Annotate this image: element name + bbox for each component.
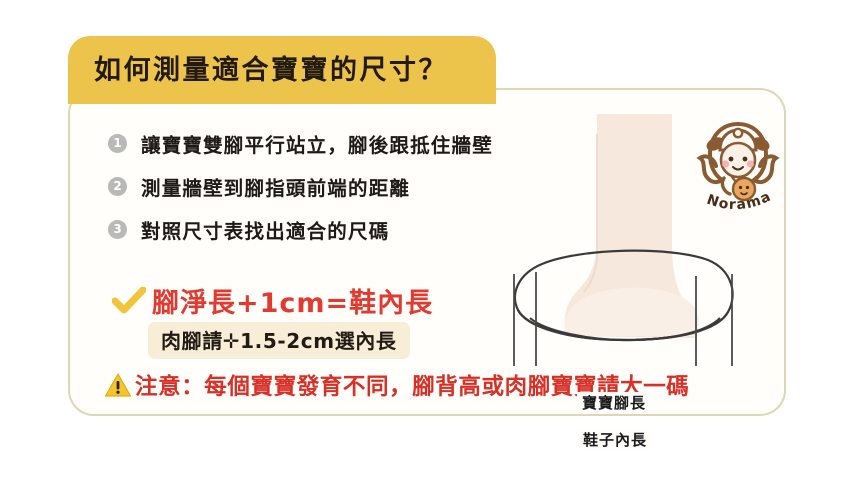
step-number-badge: 3 xyxy=(108,220,127,239)
page-title: 如何測量適合寶寶的尺寸？ xyxy=(94,48,448,87)
shoe-length-label: 鞋子內長 xyxy=(578,429,652,450)
info-card: 1 讓寶寶雙腳平行站立，腳後跟抵住牆壁 2 測量牆壁到腳指頭前端的距離 3 對照… xyxy=(68,88,786,416)
warning-triangle-icon xyxy=(104,372,132,398)
formula-line: 腳淨長+1cm=鞋內長 xyxy=(112,281,433,320)
brand-logo: Noramama xyxy=(682,114,794,218)
step-text: 對照尺寸表找出適合的尺碼 xyxy=(141,215,389,244)
check-icon xyxy=(112,287,146,315)
foot-length-label: 寶寶腳長 xyxy=(577,392,651,413)
step-number-badge: 2 xyxy=(108,177,127,196)
note-pill: 肉腳請✛1.5-2cm選內長 xyxy=(148,322,410,359)
step-text: 讓寶寶雙腳平行站立，腳後跟抵住牆壁 xyxy=(141,129,493,158)
step-number-badge: 1 xyxy=(108,134,127,153)
logo-svg: Noramama xyxy=(682,114,794,218)
note-text: 肉腳請✛1.5-2cm選內長 xyxy=(161,325,397,354)
formula-text: 腳淨長+1cm=鞋內長 xyxy=(152,281,433,320)
step-text: 測量牆壁到腳指頭前端的距離 xyxy=(141,172,410,201)
foot-illustration xyxy=(564,114,698,338)
header-tab: 如何測量適合寶寶的尺寸？ xyxy=(68,36,496,98)
